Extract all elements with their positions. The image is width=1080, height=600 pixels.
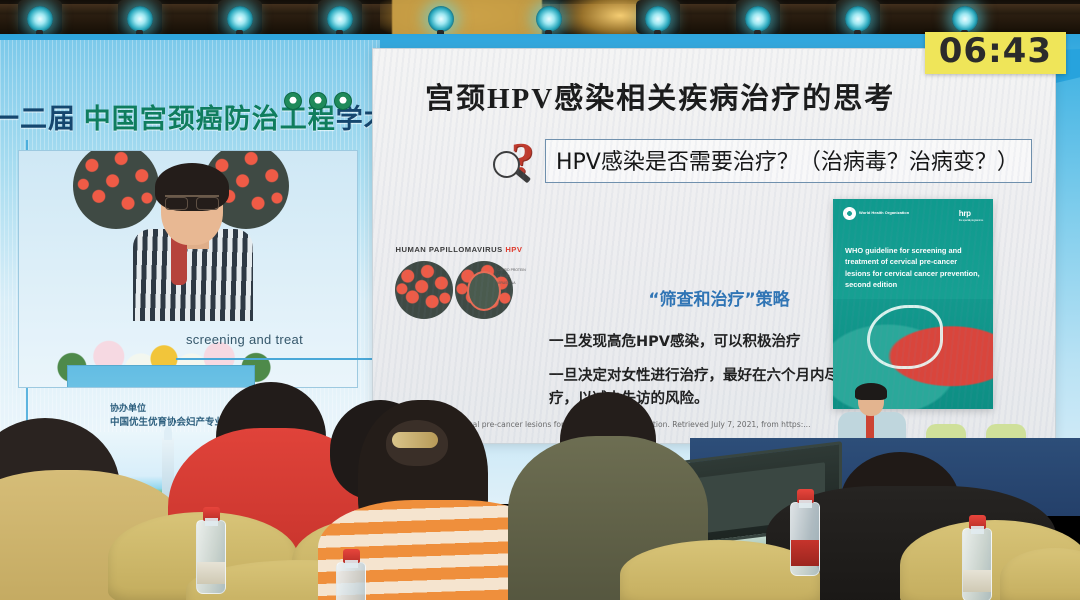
spotlight-icon [227,6,253,32]
who-guideline-cover: World Health Organization hrp the specia… [833,199,993,409]
who-emblem-icon [843,207,856,220]
bottle-neck [799,500,812,508]
glasses-icon [165,195,219,207]
virus-particle-icon [395,261,453,319]
question-text-box: HPV感染是否需要治疗？（治病毒？治病变？） [545,139,1032,183]
bottle-label [791,540,819,566]
spotlight-icon [745,6,771,32]
hpv-legend: CAPSID PROTEIN CAPSID VIRUS DNA [497,267,531,286]
who-artwork-outline [867,305,943,369]
conference-photo-scene: 一二届 中国宫颈癌防治工程学术年会 胡丽娜 [0,0,1080,600]
slide-title: 宫颈HPV感染相关疾病治疗的思考 [425,75,895,117]
podium: 胡丽娜 [67,365,255,388]
who-logo: World Health Organization [843,207,909,220]
bottle-body [790,502,820,576]
presenter-lanyard [866,414,874,440]
question-magnifier-icon: ? [491,137,545,185]
spotlight-icon [127,6,153,32]
bottle-neck [205,518,218,526]
speaker-photo-frame: 胡丽娜 [18,150,358,388]
conference-banner-panel: 一二届 中国宫颈癌防治工程学术年会 胡丽娜 [0,40,380,460]
hpv-label-accent: HPV [505,245,522,254]
spotlight-icon [327,6,353,32]
spotlight-icon [645,6,671,32]
strategy-heading: “筛查和治疗”策略 [569,285,869,310]
bottle-body [196,520,226,594]
bottle-body [962,528,992,600]
bullet-item: 一旦发现高危HPV感染，可以积极治疗 [549,331,879,353]
water-bottle [336,562,366,600]
countdown-timer: 06:43 [925,32,1066,74]
projection-screen: 宫颈HPV感染相关疾病治疗的思考 ? HPV感染是否需要治疗？（治病毒？治病变？… [372,48,1056,444]
emblem-icon [334,92,352,110]
spotlight-icon [27,6,53,32]
legend-item: VIRUS DNA [497,280,531,286]
spotlight-icon [536,6,562,32]
organization-emblems [284,92,352,110]
virus-core [467,271,501,311]
caption-rule [176,358,380,360]
water-bottle [962,528,992,600]
who-cover-title: WHO guideline for screening and treatmen… [845,245,981,291]
hpv-diagram-label: HUMAN PAPILLOMAVIRUS HPV [389,245,529,254]
water-bottle [790,502,820,576]
hrp-logo-text: hrp [959,209,971,218]
banner-title-partial: 一二届 [0,104,76,134]
english-caption: screening and treat [186,332,303,347]
bottle-label [197,562,225,584]
who-logo-text: World Health Organization [859,211,909,216]
hrp-logo: hrp the special programme [959,209,983,222]
bottle-label [963,570,991,592]
hair-clip-icon [392,432,438,448]
speaker-figure [109,165,279,315]
bottle-neck [971,526,984,534]
hrp-logo-sub: the special programme [959,218,983,222]
emblem-icon [309,92,327,110]
hpv-diagram: HUMAN PAPILLOMAVIRUS HPV CAPSID PROTEIN … [389,245,529,335]
spotlight-icon [845,6,871,32]
who-cover-logos: World Health Organization hrp the specia… [843,207,983,225]
bottle-neck [345,560,358,568]
hpv-label-main: HUMAN PAPILLOMAVIRUS [396,245,503,254]
water-bottle [196,520,226,594]
presenter-hair [855,383,887,400]
spotlight-icon [952,6,978,32]
emblem-icon [284,92,302,110]
spotlight-icon [428,6,454,32]
question-callout: ? HPV感染是否需要治疗？（治病毒？治病变？） [491,137,1032,185]
